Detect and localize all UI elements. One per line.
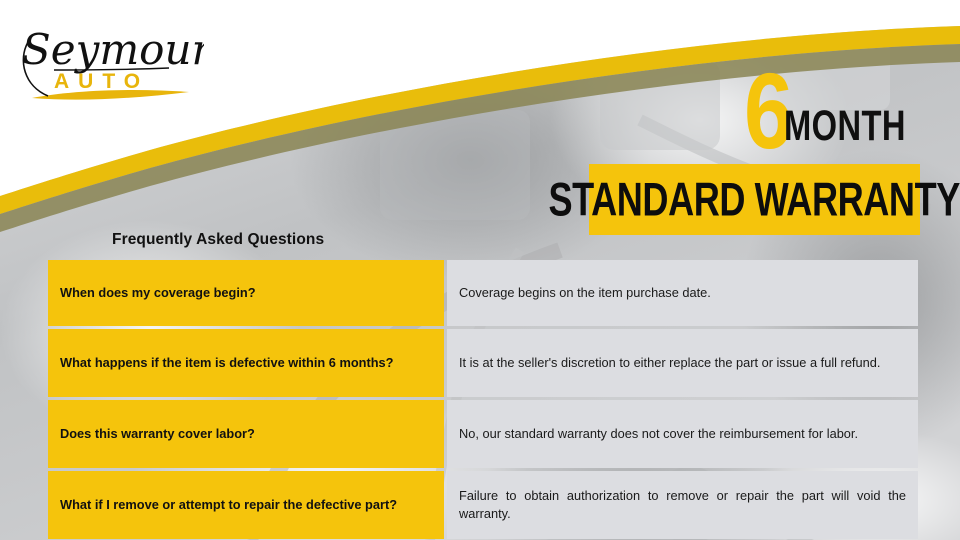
faq-heading: Frequently Asked Questions xyxy=(112,231,324,249)
table-row: Does this warranty cover labor? No, our … xyxy=(48,400,918,468)
faq-question: When does my coverage begin? xyxy=(48,260,444,326)
warranty-period-label: MONTH xyxy=(784,105,906,148)
faq-question: Does this warranty cover labor? xyxy=(48,400,444,468)
standard-warranty-banner: STANDARD WARRANTY xyxy=(589,164,920,235)
table-row: When does my coverage begin? Coverage be… xyxy=(48,260,918,326)
table-row: What happens if the item is defective wi… xyxy=(48,329,918,397)
table-row: What if I remove or attempt to repair th… xyxy=(48,471,918,539)
faq-question: What if I remove or attempt to repair th… xyxy=(48,471,444,539)
standard-warranty-label: STANDARD WARRANTY xyxy=(549,173,960,227)
faq-answer: No, our standard warranty does not cover… xyxy=(447,400,918,468)
faq-table: When does my coverage begin? Coverage be… xyxy=(45,257,921,540)
warranty-duration-badge: 6 MONTH xyxy=(744,52,926,156)
seymour-auto-logo: Seymour AUTO xyxy=(14,12,204,104)
logo-wordmark: Seymour xyxy=(22,25,204,74)
faq-answer: Failure to obtain authorization to remov… xyxy=(447,471,918,539)
faq-answer: It is at the seller's discretion to eith… xyxy=(447,329,918,397)
warranty-slide: Seymour AUTO 6 MONTH STANDARD WARRANTY F… xyxy=(0,0,960,540)
faq-answer: Coverage begins on the item purchase dat… xyxy=(447,260,918,326)
faq-question: What happens if the item is defective wi… xyxy=(48,329,444,397)
logo-subtext: AUTO xyxy=(54,70,149,93)
